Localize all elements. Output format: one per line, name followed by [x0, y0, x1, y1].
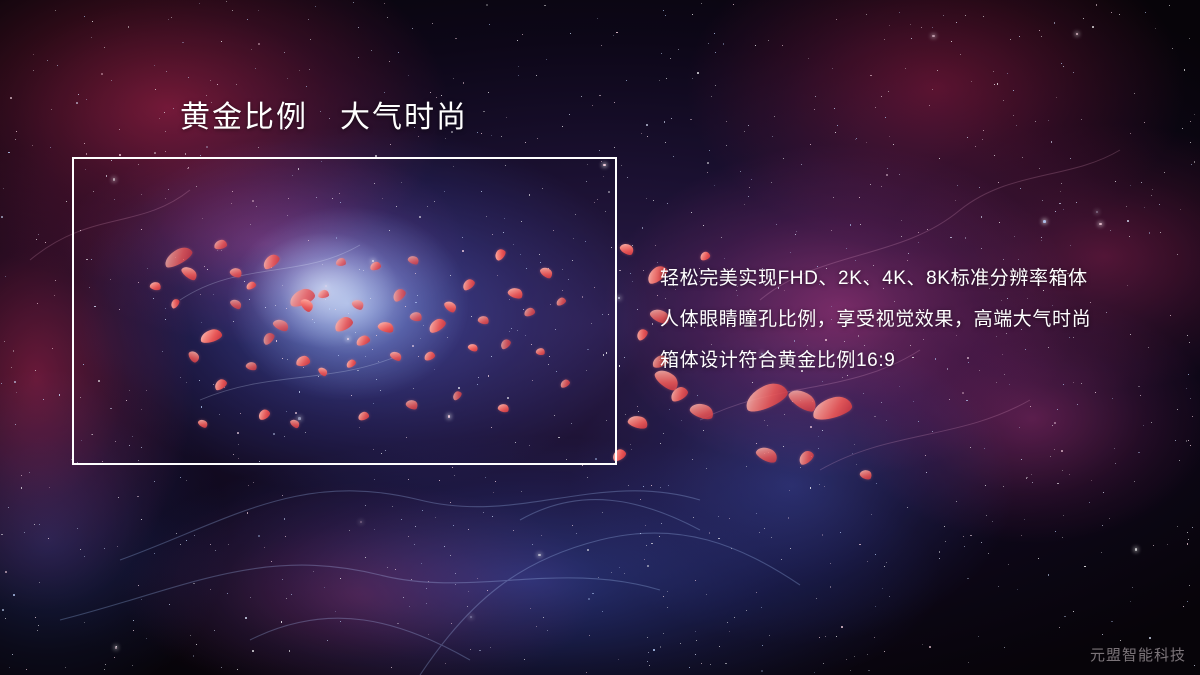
photo-frame-content	[74, 159, 615, 463]
body-copy: 轻松完美实现FHD、2K、4K、8K标准分辨率箱体 人体眼睛瞳孔比例，享受视觉效…	[660, 258, 1180, 381]
slide-canvas: 黄金比例 大气时尚 轻松完美实现FHD、2K、4K、8K标准分辨率箱体 人体眼睛…	[0, 0, 1200, 675]
watermark: 元盟智能科技	[1090, 644, 1186, 665]
body-line-3: 箱体设计符合黄金比例16:9	[660, 340, 1180, 381]
body-line-1: 轻松完美实现FHD、2K、4K、8K标准分辨率箱体	[660, 258, 1180, 299]
body-line-2: 人体眼睛瞳孔比例，享受视觉效果，高端大气时尚	[660, 299, 1180, 340]
page-title: 黄金比例 大气时尚	[180, 100, 468, 136]
photo-frame	[72, 157, 617, 465]
